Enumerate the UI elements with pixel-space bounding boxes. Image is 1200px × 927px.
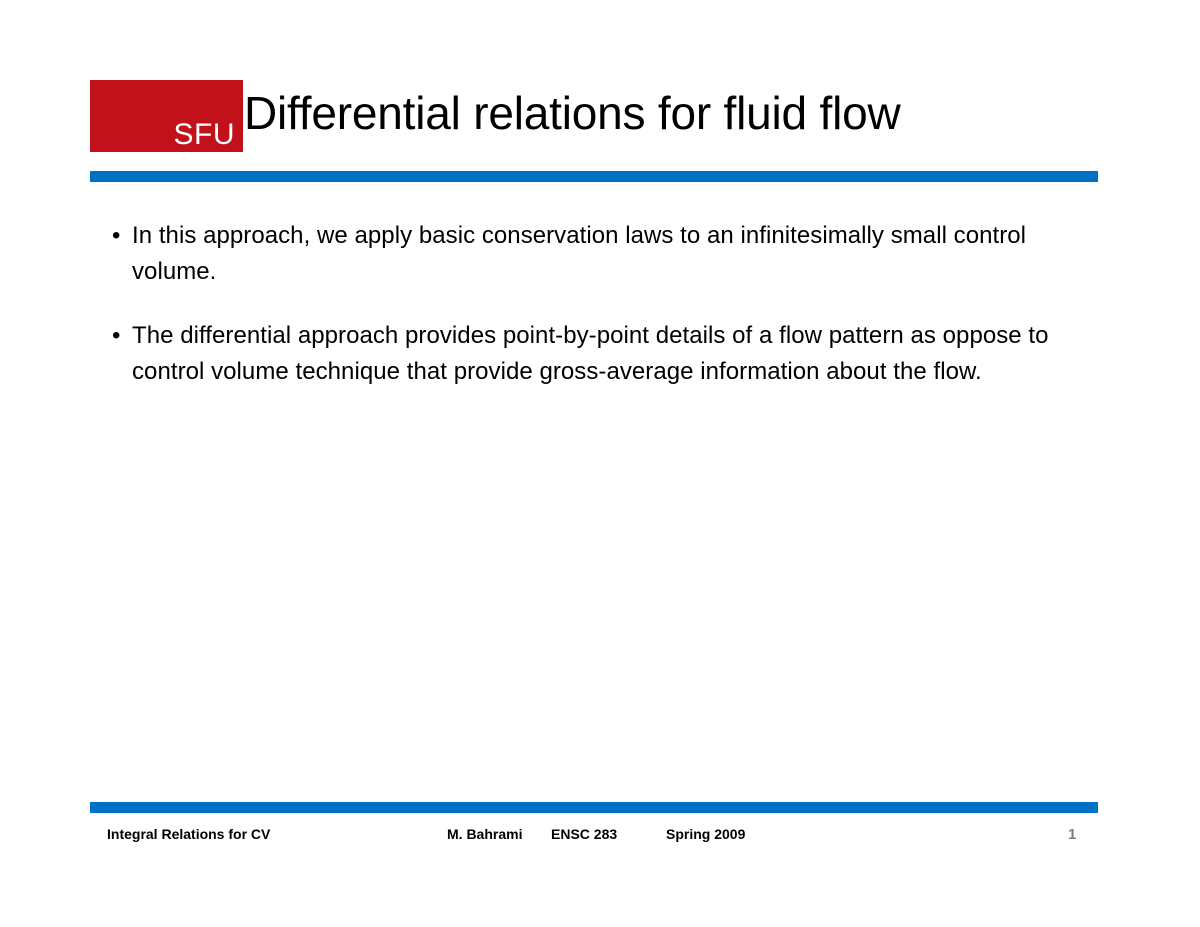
- sfu-logo-label: SFU: [174, 120, 236, 150]
- list-item: • In this approach, we apply basic conse…: [90, 218, 1100, 290]
- bullet-text: The differential approach provides point…: [132, 318, 1100, 390]
- slide-footer: Integral Relations for CV M. Bahrami ENS…: [0, 818, 1200, 863]
- page-title: Differential relations for fluid flow: [244, 88, 1104, 140]
- header-accent-bar: [90, 171, 1098, 182]
- footer-meta: M. Bahrami ENSC 283 Spring 2009: [447, 826, 745, 842]
- slide-body: • In this approach, we apply basic conse…: [90, 218, 1100, 418]
- bullet-marker-icon: •: [90, 218, 132, 254]
- sfu-logo: SFU: [90, 80, 243, 152]
- page-number: 1: [1068, 826, 1076, 843]
- slide: SFU Differential relations for fluid flo…: [0, 0, 1200, 927]
- list-item: • The differential approach provides poi…: [90, 318, 1100, 390]
- footer-course-label: ENSC 283: [551, 826, 666, 842]
- footer-accent-bar: [90, 802, 1098, 813]
- footer-term-label: Spring 2009: [666, 826, 745, 842]
- bullet-marker-icon: •: [90, 318, 132, 354]
- slide-header: SFU Differential relations for fluid flo…: [0, 0, 1200, 195]
- footer-subject-label: Integral Relations for CV: [107, 826, 270, 842]
- footer-author-label: M. Bahrami: [447, 826, 551, 842]
- bullet-text: In this approach, we apply basic conserv…: [132, 218, 1100, 290]
